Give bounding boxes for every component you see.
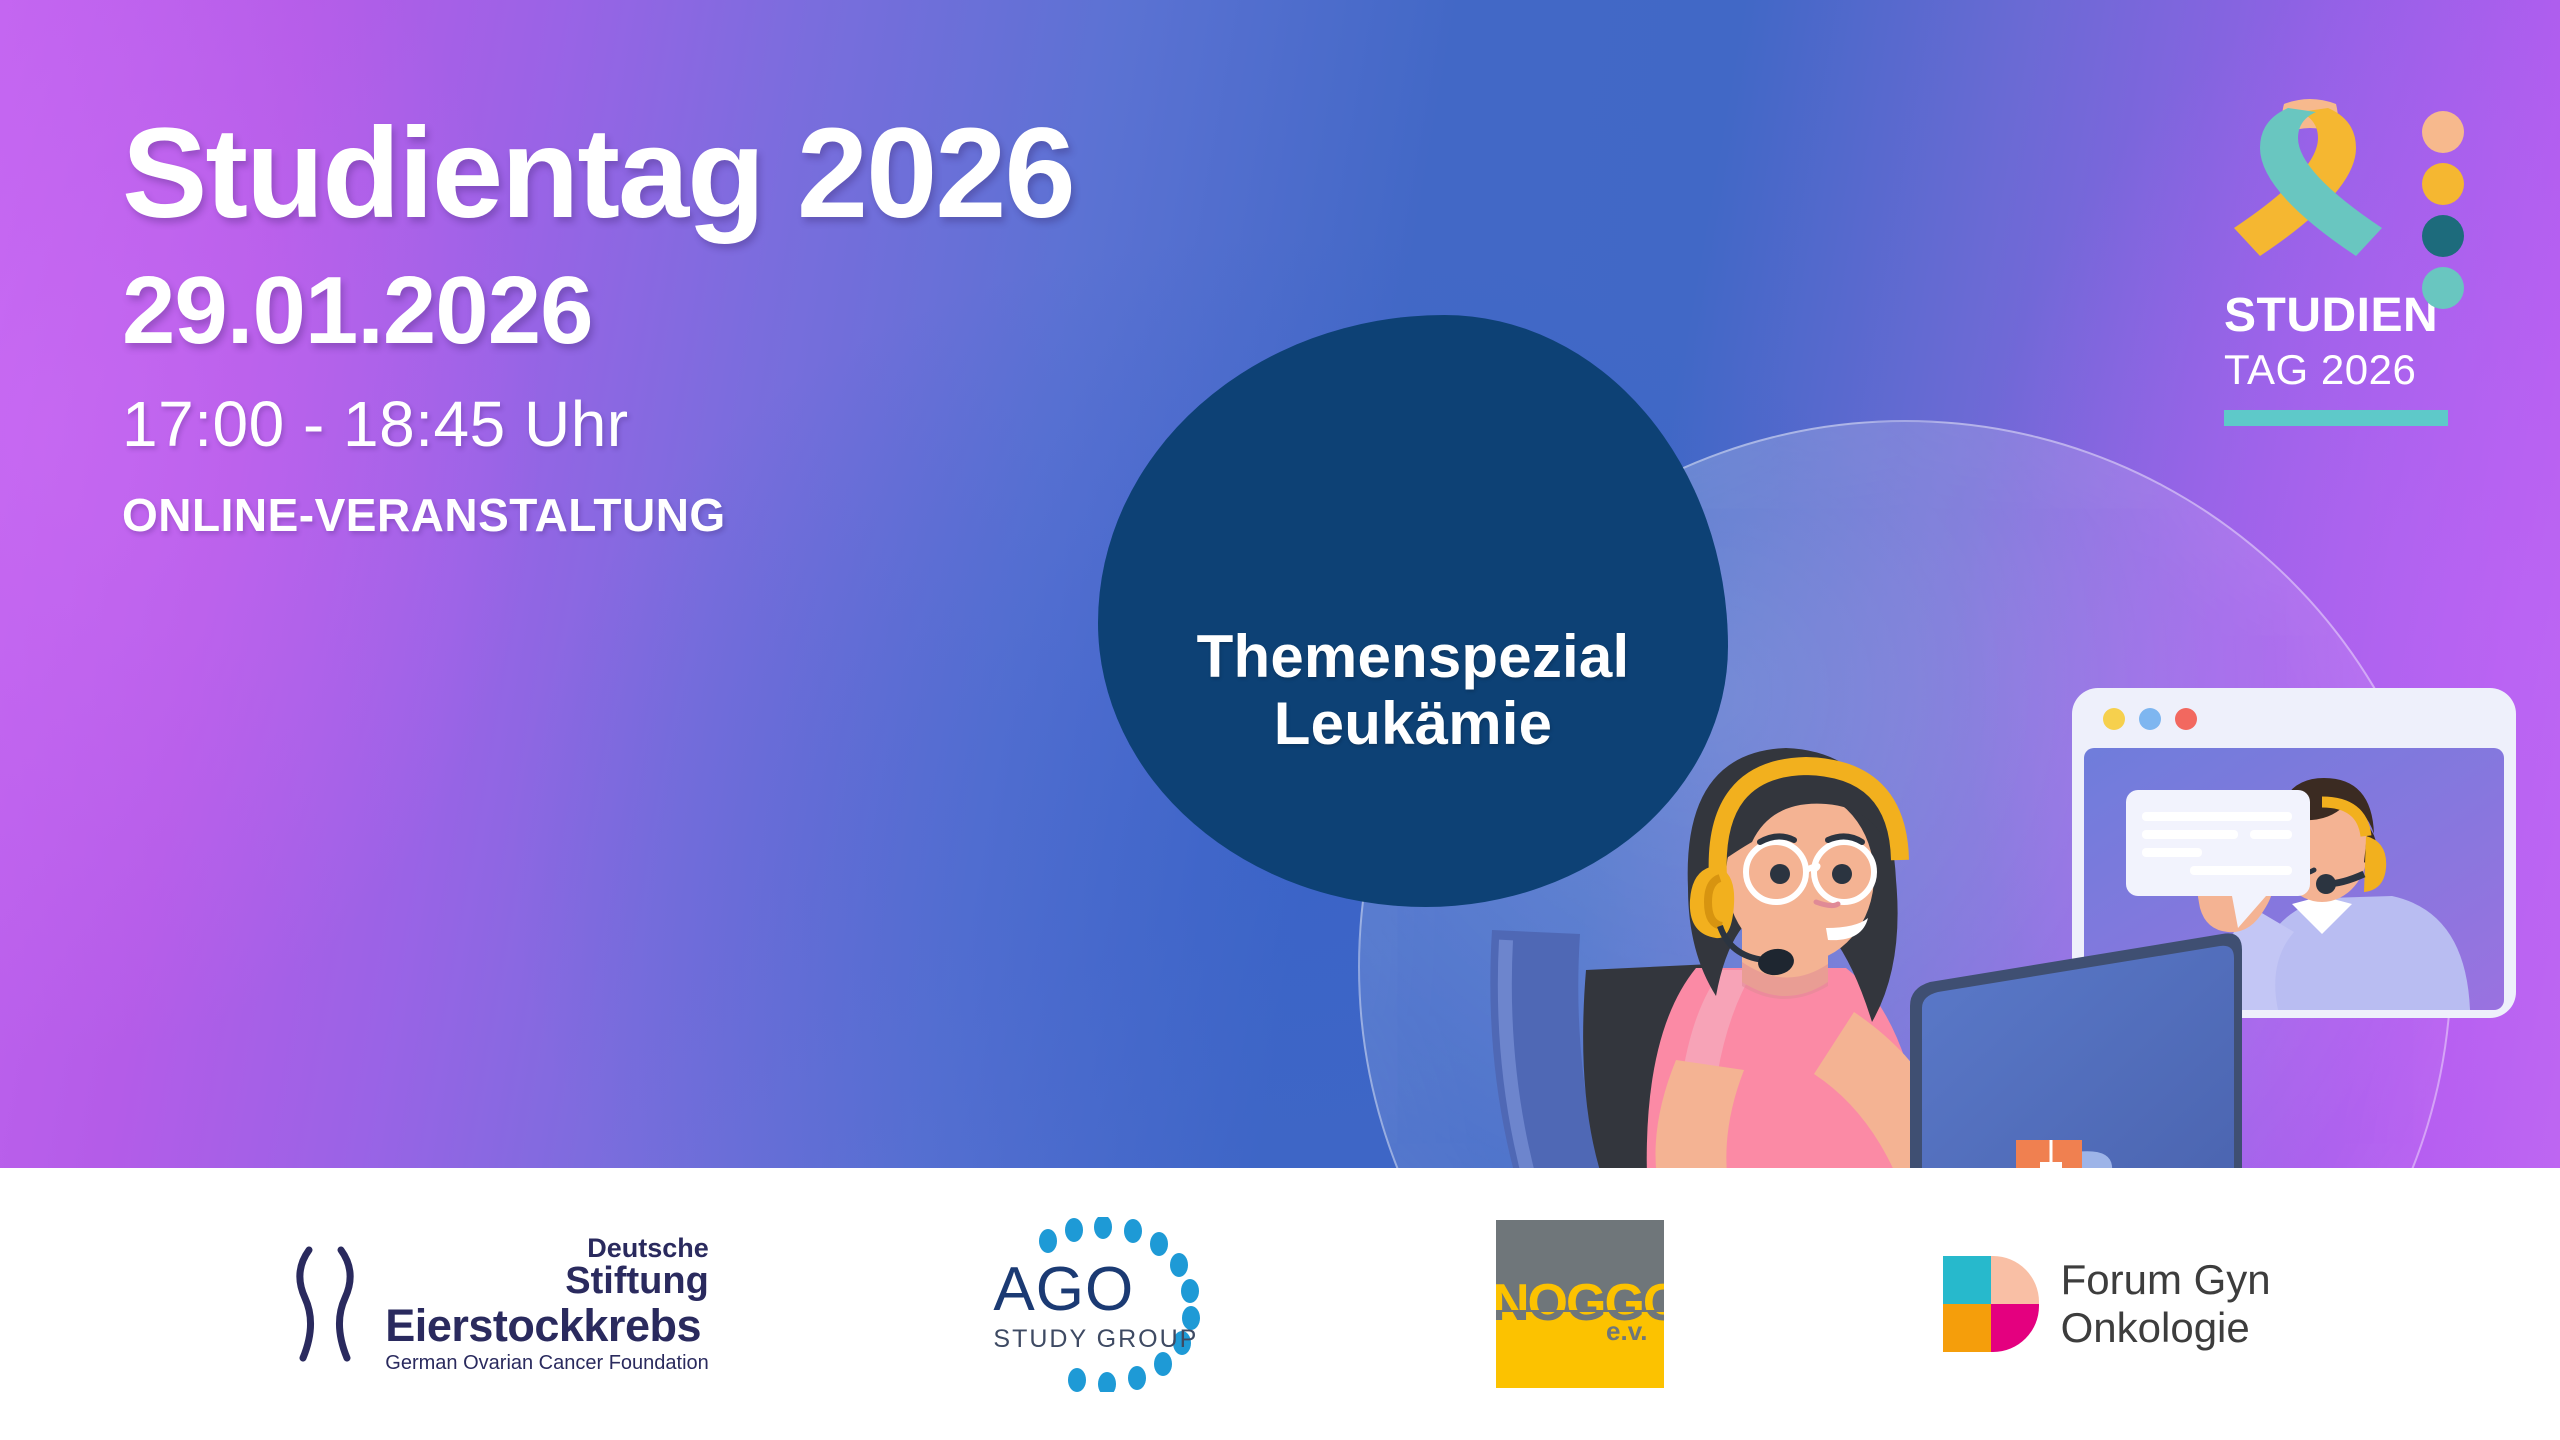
poster-canvas: Themenspezial Leukämie Studientag 2026 2… [0, 0, 2560, 1440]
logo-mark [2224, 88, 2472, 298]
ovary-symbol-icon [289, 1244, 359, 1364]
event-mode: ONLINE-VERANSTALTUNG [122, 488, 1222, 543]
headline-block: Studientag 2026 29.01.2026 17:00 - 18:45… [122, 110, 1222, 544]
fgo-line-2: Onkologie [2061, 1304, 2271, 1352]
forum-gyn-color-blocks [1943, 1256, 2039, 1352]
fgo-line-1: Forum Gyn [2061, 1256, 2271, 1304]
page-title: Studientag 2026 [122, 110, 1222, 238]
awareness-ribbon-icon [2224, 88, 2392, 284]
logo-underline-bar [2224, 410, 2448, 426]
event-date: 29.01.2026 [122, 258, 1222, 364]
event-time: 17:00 - 18:45 Uhr [122, 386, 1222, 463]
noggo-suffix: e.v. [1606, 1316, 1647, 1347]
studientag-logo: STUDIEN TAG 2026 [2224, 88, 2472, 426]
logo-dots [2420, 110, 2466, 315]
ago-line-1: AGO [993, 1259, 1198, 1321]
dse-line-1: Deutsche [385, 1234, 709, 1262]
partner-logo-bar: Deutsche Stiftung Eierstockkrebs German … [0, 1168, 2560, 1440]
logo-subtitle: TAG 2026 [2224, 348, 2472, 392]
dse-line-3: Eierstockkrebs [385, 1302, 709, 1349]
partner-logo-ago-study-group: AGO STUDY GROUP [987, 1217, 1217, 1392]
dse-line-2: Stiftung [385, 1262, 709, 1302]
topic-badge-text: Themenspezial Leukämie [1197, 623, 1630, 757]
partner-logo-forum-gyn-onkologie: Forum Gyn Onkologie [1943, 1256, 2271, 1353]
ago-line-2: STUDY GROUP [993, 1325, 1198, 1354]
dse-line-4: German Ovarian Cancer Foundation [385, 1353, 709, 1374]
topic-line-1: Themenspezial [1197, 623, 1630, 690]
partner-logo-noggo: NOGGO e.v. [1496, 1220, 1664, 1388]
partner-logo-deutsche-stiftung-eierstockkrebs: Deutsche Stiftung Eierstockkrebs German … [289, 1234, 709, 1374]
topic-line-2: Leukämie [1197, 690, 1630, 757]
